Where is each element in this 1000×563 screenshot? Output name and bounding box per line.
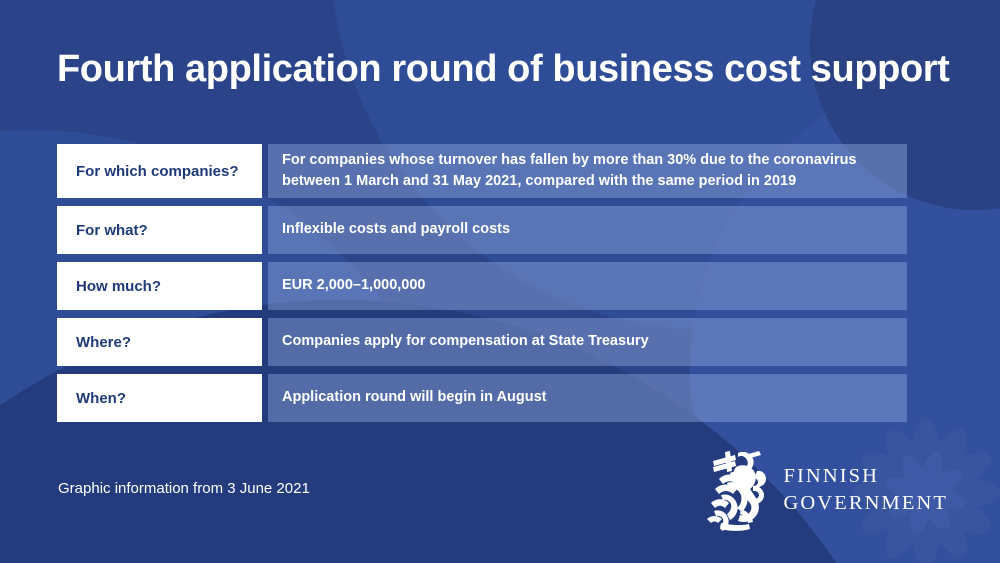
info-table: For which companies? For companies whose… [57, 144, 907, 430]
table-row: When? Application round will begin in Au… [57, 374, 907, 422]
logo-line-2: GOVERNMENT [784, 490, 949, 517]
table-row: For which companies? For companies whose… [57, 144, 907, 198]
row-label: For what? [57, 206, 262, 254]
logo-line-1: FINNISH [784, 463, 949, 490]
table-row: How much? EUR 2,000–1,000,000 [57, 262, 907, 310]
row-label: When? [57, 374, 262, 422]
graphic-date-note: Graphic information from 3 June 2021 [58, 480, 310, 497]
row-value: Application round will begin in August [268, 374, 907, 422]
infographic-canvas: Fourth application round of business cos… [0, 0, 1000, 563]
page-title: Fourth application round of business cos… [57, 48, 957, 92]
row-label: How much? [57, 262, 262, 310]
heraldic-lion-icon [705, 449, 767, 531]
logo-wordmark: FINNISH GOVERNMENT [784, 463, 949, 517]
table-row: Where? Companies apply for compensation … [57, 318, 907, 366]
row-value: For companies whose turnover has fallen … [268, 144, 907, 198]
row-value: Companies apply for compensation at Stat… [268, 318, 907, 366]
finnish-government-logo: FINNISH GOVERNMENT [705, 449, 949, 531]
row-label: For which companies? [57, 144, 262, 198]
row-value: EUR 2,000–1,000,000 [268, 262, 907, 310]
row-value: Inflexible costs and payroll costs [268, 206, 907, 254]
table-row: For what? Inflexible costs and payroll c… [57, 206, 907, 254]
row-label: Where? [57, 318, 262, 366]
